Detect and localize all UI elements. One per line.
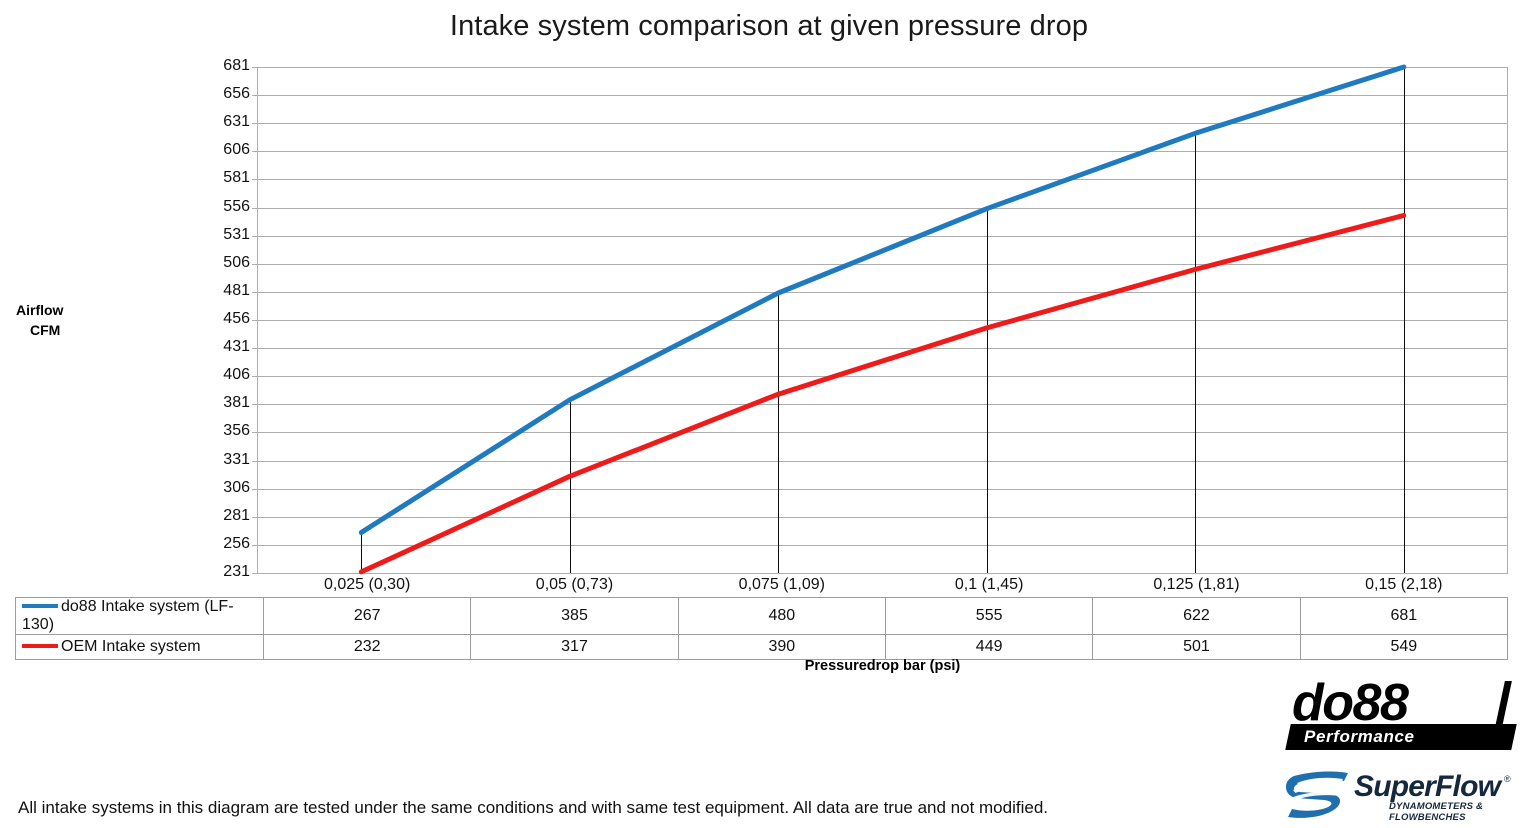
- y-axis-tick-label: 531: [206, 227, 250, 243]
- table-cell-value: 681: [1300, 598, 1507, 635]
- y-axis-tick-label: 381: [206, 395, 250, 411]
- table-cell-value: 390: [678, 635, 885, 660]
- legend-color-swatch: [22, 604, 58, 608]
- legend-item: OEM Intake system: [16, 635, 264, 660]
- table-cell-value: 501: [1093, 635, 1300, 660]
- footer-note: All intake systems in this diagram are t…: [18, 798, 1048, 818]
- y-axis-tick-label: 656: [206, 86, 250, 102]
- series-line-do88: [361, 215, 1404, 572]
- x-axis-category-label: 0,1 (1,45): [885, 573, 1092, 598]
- data-table: 0,025 (0,30)0,05 (0,73)0,075 (1,09)0,1 (…: [15, 573, 1508, 660]
- table-cell-value: 549: [1300, 635, 1507, 660]
- y-axis-title: Airflow CFM: [10, 300, 130, 340]
- plot-area: [257, 67, 1508, 573]
- y-axis-title-line-2: CFM: [10, 320, 130, 340]
- y-axis-tick-label: 481: [206, 283, 250, 299]
- legend-label: OEM Intake system: [61, 638, 201, 655]
- y-axis-tick-label: 431: [206, 339, 250, 355]
- x-axis-category-label: 0,15 (2,18): [1300, 573, 1507, 598]
- y-axis-tick-label: 456: [206, 311, 250, 327]
- y-axis-tick-label: 606: [206, 142, 250, 158]
- table-row: do88 Intake system (LF-130)2673854805556…: [16, 598, 1508, 635]
- chart-title: Intake system comparison at given pressu…: [0, 10, 1538, 43]
- table-corner-cell: [16, 573, 264, 598]
- table-row: OEM Intake system232317390449501549: [16, 635, 1508, 660]
- superflow-wordmark: SuperFlow: [1354, 772, 1500, 802]
- do88-logo: do88 Performance: [1288, 683, 1520, 753]
- x-axis-title: Pressuredrop bar (psi): [257, 658, 1508, 674]
- legend-color-swatch: [22, 644, 58, 648]
- y-axis-title-line-1: Airflow: [10, 300, 130, 320]
- y-axis-tick-label: 306: [206, 480, 250, 496]
- y-axis-tick-label: 281: [206, 508, 250, 524]
- y-axis-tick-label: 681: [206, 58, 250, 74]
- y-axis-tick-label: 631: [206, 114, 250, 130]
- y-axis-tick-label: 506: [206, 255, 250, 271]
- table-cell-value: 385: [471, 598, 678, 635]
- do88-logo-wordmark: do88: [1292, 677, 1407, 729]
- y-axis-tick-label: 581: [206, 170, 250, 186]
- table-cell-value: 232: [264, 635, 471, 660]
- superflow-trademark: ®: [1504, 774, 1511, 784]
- x-axis-category-label: 0,025 (0,30): [264, 573, 471, 598]
- y-axis-tick-label: 256: [206, 536, 250, 552]
- y-axis-tick-label: 356: [206, 423, 250, 439]
- x-axis-category-label: 0,125 (1,81): [1093, 573, 1300, 598]
- y-axis-tick-labels: 6816566316065815565315064814564314063813…: [201, 67, 251, 573]
- superflow-swoosh-icon: [1286, 768, 1352, 820]
- legend-item: do88 Intake system (LF-130): [16, 598, 264, 635]
- x-axis-category-label: 0,075 (1,09): [678, 573, 885, 598]
- y-axis-tick-label: 556: [206, 199, 250, 215]
- superflow-logo: SuperFlow ® DYNAMOMETERS & FLOWBENCHES: [1286, 766, 1526, 822]
- table-row-categories: 0,025 (0,30)0,05 (0,73)0,075 (1,09)0,1 (…: [16, 573, 1508, 598]
- x-axis-category-label: 0,05 (0,73): [471, 573, 678, 598]
- table-cell-value: 480: [678, 598, 885, 635]
- table-cell-value: 622: [1093, 598, 1300, 635]
- do88-logo-tagline: Performance: [1304, 727, 1415, 747]
- table-cell-value: 317: [471, 635, 678, 660]
- table-cell-value: 449: [885, 635, 1092, 660]
- table-cell-value: 555: [885, 598, 1092, 635]
- superflow-tagline: DYNAMOMETERS & FLOWBENCHES: [1389, 801, 1526, 823]
- y-axis-tick-label: 406: [206, 367, 250, 383]
- series-line-oem: [361, 67, 1404, 533]
- y-axis-tick-label: 331: [206, 452, 250, 468]
- series-lines: [257, 67, 1508, 573]
- table-cell-value: 267: [264, 598, 471, 635]
- do88-logo-slash: [1495, 681, 1512, 727]
